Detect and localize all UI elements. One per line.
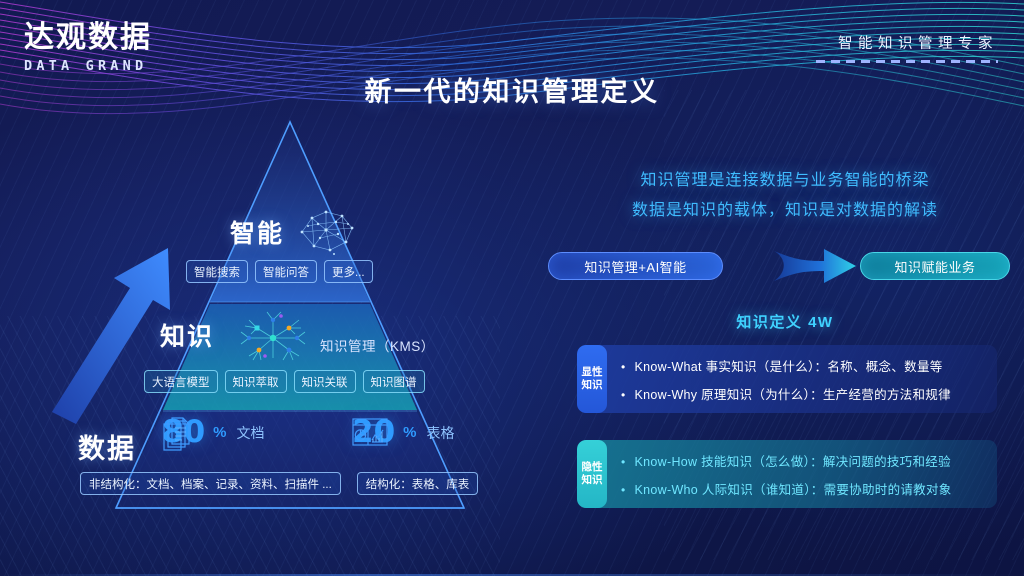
bullet-dot-icon: • [621, 388, 626, 402]
tier-label-intelligence: 智能 [230, 214, 284, 250]
tier-label-knowledge: 知识 [160, 317, 214, 353]
right-headline: 知识管理是连接数据与业务智能的桥梁 数据是知识的载体，知识是对数据的解读 [560, 166, 1010, 226]
knowledge-pyramid: 智能 知识 数据 知识管理（KMS） 智能搜索 智能问答 更多... 大语言模型… [52, 112, 562, 517]
bullet-know-how-text: Know-How 技能知识（怎么做）：解决问题的技巧和经验 [635, 451, 951, 470]
bullet-dot-icon: • [621, 360, 626, 374]
stat-tables-unit: 表格 [426, 423, 454, 443]
stat-tables-percent: % [403, 424, 416, 441]
bullet-know-who-text: Know-Who 人际知识（谁知道）：需要协助时的请教对象 [635, 479, 952, 498]
chip-smart-search[interactable]: 智能搜索 [186, 260, 248, 283]
explicit-knowledge-block: 显性知识 • Know-What 事实知识（是什么）：名称、概念、数量等 • K… [577, 345, 997, 413]
intelligence-chip-group: 智能搜索 智能问答 更多... [186, 260, 373, 283]
dashboard-icon [352, 417, 388, 447]
chip-smart-qa[interactable]: 智能问答 [255, 260, 317, 283]
kms-caption: 知识管理（KMS） [320, 335, 435, 355]
explicit-knowledge-bullets: • Know-What 事实知识（是什么）：名称、概念、数量等 • Know-W… [607, 345, 997, 413]
bullet-know-how: • Know-How 技能知识（怎么做）：解决问题的技巧和经验 [621, 451, 997, 470]
tagline-dashed-underline [816, 60, 998, 63]
tier-label-data: 数据 [78, 427, 136, 466]
tagline-text: 智能知识管理专家 [816, 32, 998, 53]
stat-documents: 80 % 文档 [162, 417, 264, 448]
brain-network-icon [292, 204, 360, 256]
knowledge-graph-icon [237, 310, 309, 366]
stat-documents-percent: % [213, 424, 226, 441]
tacit-knowledge-tag: 隐性知识 [577, 440, 607, 508]
pill-km-plus-ai[interactable]: 知识管理+AI智能 [548, 252, 723, 280]
tacit-knowledge-bullets: • Know-How 技能知识（怎么做）：解决问题的技巧和经验 • Know-W… [607, 440, 997, 508]
transformation-flow: 知识管理+AI智能 知识赋能业务 [548, 252, 1010, 280]
bullet-dot-icon: • [621, 483, 626, 497]
chip-knowledge-extraction[interactable]: 知识萃取 [225, 370, 287, 393]
headline-line-2: 数据是知识的载体，知识是对数据的解读 [560, 196, 1010, 226]
bullet-dot-icon: • [621, 455, 626, 469]
stat-tables: 20 % 表格 [352, 417, 454, 448]
right-arrow-icon [772, 247, 858, 290]
page-title: 新一代的知识管理定义 [0, 70, 1024, 109]
brand-logo: 达观数据 DATA GRAND [24, 22, 152, 74]
chip-unstructured[interactable]: 非结构化：文档、档案、记录、资料、扫描件 ... [80, 472, 341, 495]
up-arrow-icon [52, 248, 170, 424]
slide-canvas: 达观数据 DATA GRAND 智能知识管理专家 新一代的知识管理定义 [0, 0, 1024, 576]
knowledge-4w-title: 知识定义 4W [560, 311, 1010, 332]
documents-icon [162, 417, 192, 453]
data-chip-group: 非结构化：文档、档案、记录、资料、扫描件 ... 结构化：表格、库表 [80, 472, 478, 495]
logo-chinese-name: 达观数据 [24, 22, 152, 54]
bullet-know-what: • Know-What 事实知识（是什么）：名称、概念、数量等 [621, 356, 997, 375]
chip-structured[interactable]: 结构化：表格、库表 [357, 472, 479, 495]
chip-knowledge-graph[interactable]: 知识图谱 [363, 370, 425, 393]
headline-line-1: 知识管理是连接数据与业务智能的桥梁 [560, 166, 1010, 196]
chip-knowledge-linking[interactable]: 知识关联 [294, 370, 356, 393]
chip-llm[interactable]: 大语言模型 [144, 370, 218, 393]
tacit-knowledge-block: 隐性知识 • Know-How 技能知识（怎么做）：解决问题的技巧和经验 • K… [577, 440, 997, 508]
pill-knowledge-empowers-business[interactable]: 知识赋能业务 [860, 252, 1010, 280]
bullet-know-why: • Know-Why 原理知识（为什么）：生产经营的方法和规律 [621, 384, 997, 403]
bullet-know-what-text: Know-What 事实知识（是什么）：名称、概念、数量等 [635, 356, 943, 375]
bullet-know-who: • Know-Who 人际知识（谁知道）：需要协助时的请教对象 [621, 479, 997, 498]
chip-more[interactable]: 更多... [324, 260, 373, 283]
bullet-know-why-text: Know-Why 原理知识（为什么）：生产经营的方法和规律 [635, 384, 951, 403]
knowledge-chip-group: 大语言模型 知识萃取 知识关联 知识图谱 [144, 370, 425, 393]
header-tagline: 智能知识管理专家 [816, 32, 998, 63]
stat-documents-unit: 文档 [236, 423, 264, 443]
explicit-knowledge-tag: 显性知识 [577, 345, 607, 413]
